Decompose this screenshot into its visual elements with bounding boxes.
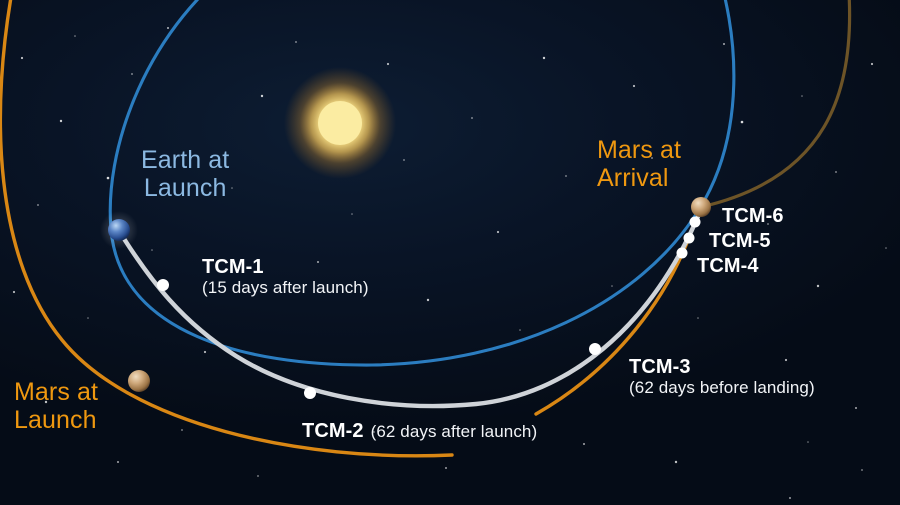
mars-at-arrival-label-line1: Mars at: [597, 136, 681, 164]
mars-at-arrival-label-line2: Arrival: [597, 164, 681, 192]
tcm-3-detail: (62 days before landing): [629, 378, 815, 397]
tcm-1-marker[interactable]: [157, 279, 169, 291]
mars-at-launch-label-line2: Launch: [14, 406, 98, 434]
tcm-6-title: TCM-6: [722, 205, 784, 227]
tcm-1-detail: (15 days after launch): [202, 278, 369, 297]
tcm-6-label[interactable]: TCM-6: [722, 205, 784, 227]
trajectory-diagram: Earth at Launch Mars at Launch Mars at A…: [0, 0, 900, 505]
tcm-6-marker[interactable]: [690, 217, 701, 228]
tcm-2-label[interactable]: TCM-2 (62 days after launch): [302, 420, 537, 442]
earth-at-launch-label: Earth at Launch: [141, 146, 229, 202]
tcm-4-marker[interactable]: [677, 248, 688, 259]
mars-at-launch-label-line1: Mars at: [14, 378, 98, 406]
tcm-3-label[interactable]: TCM-3 (62 days before landing): [629, 356, 815, 398]
tcm-2-marker[interactable]: [304, 387, 316, 399]
tcm-2-detail: (62 days after launch): [371, 422, 538, 441]
tcm-1-label[interactable]: TCM-1 (15 days after launch): [202, 256, 369, 298]
tcm-5-title: TCM-5: [709, 230, 771, 252]
tcm-4-title: TCM-4: [697, 255, 759, 277]
tcm-5-label[interactable]: TCM-5: [709, 230, 771, 252]
tcm-5-marker[interactable]: [684, 233, 695, 244]
earth-at-launch-label-line1: Earth at: [141, 146, 229, 174]
mars-at-launch-label: Mars at Launch: [14, 378, 98, 434]
tcm-3-marker[interactable]: [589, 343, 601, 355]
tcm-4-label[interactable]: TCM-4: [697, 255, 759, 277]
tcm-2-title: TCM-2: [302, 420, 364, 442]
tcm-3-title: TCM-3: [629, 356, 815, 378]
tcm-1-title: TCM-1: [202, 256, 369, 278]
earth-at-launch-label-line2: Launch: [141, 174, 229, 202]
mars-at-arrival-label: Mars at Arrival: [597, 136, 681, 192]
